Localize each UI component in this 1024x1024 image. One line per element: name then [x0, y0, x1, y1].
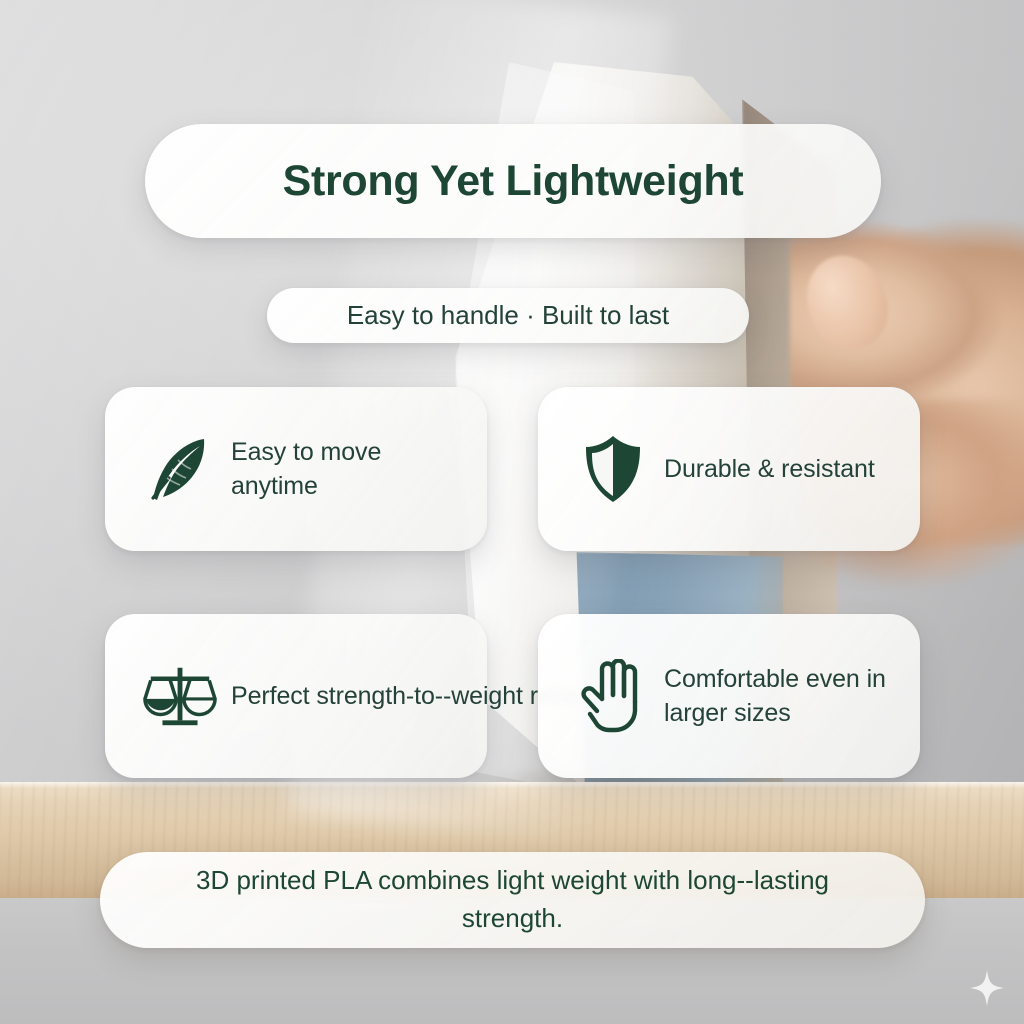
feature-card-strength-to-weight[interactable]: Perfect strength-to--weight ratio — [105, 614, 487, 778]
shield-icon — [576, 430, 650, 508]
balance-scale-icon — [143, 657, 217, 735]
shelf-top-edge — [0, 782, 1024, 789]
footer-caption: 3D printed PLA combines light weight wit… — [143, 862, 883, 937]
feature-label: Comfortable even in larger sizes — [664, 662, 898, 731]
feature-card-easy-to-move[interactable]: Easy to move anytime — [105, 387, 487, 551]
page-title: Strong Yet Lightweight — [283, 157, 744, 206]
feature-label: Durable & resistant — [664, 452, 875, 487]
feature-label: Easy to move anytime — [231, 435, 465, 504]
hand-palm-icon — [576, 657, 650, 735]
footer-caption-banner: 3D printed PLA combines light weight wit… — [100, 852, 925, 948]
feature-label: Perfect strength-to--weight ratio — [231, 679, 578, 714]
sparkle-icon — [970, 970, 1004, 1006]
feather-icon — [143, 430, 217, 508]
subtitle-banner: Easy to handle · Built to last — [267, 288, 749, 343]
title-banner: Strong Yet Lightweight — [145, 124, 881, 238]
page-subtitle: Easy to handle · Built to last — [347, 300, 669, 331]
feature-card-durable[interactable]: Durable & resistant — [538, 387, 920, 551]
feature-card-comfortable[interactable]: Comfortable even in larger sizes — [538, 614, 920, 778]
poster-canvas: Strong Yet Lightweight Easy to handle · … — [0, 0, 1024, 1024]
